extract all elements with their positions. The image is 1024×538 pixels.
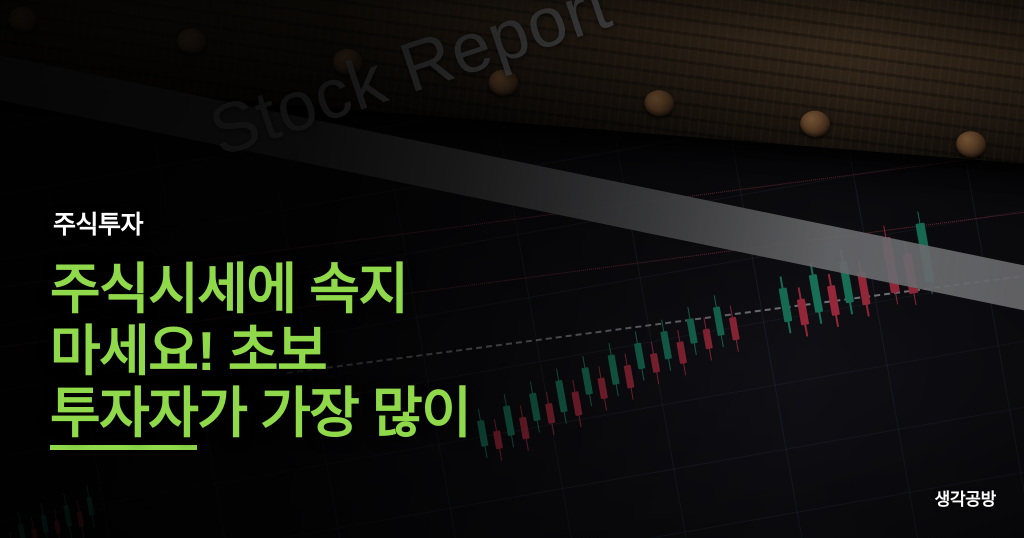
headline-line-1: 주식시세에 속지 [50, 258, 750, 320]
headline-line-3: 투자자가 가장 많이 [50, 382, 750, 444]
headline-line-3-tail: 가 가장 많이 [197, 382, 470, 444]
headline-underlined-term: 투자자 [50, 382, 197, 450]
headline: 주식시세에 속지 마세요! 초보 투자자가 가장 많이 [50, 258, 750, 444]
brand-watermark: 생각공방 [935, 485, 996, 510]
kicker-label: 주식투자 [53, 205, 143, 241]
thumbnail-canvas: Stock Report 주식투자 주식시세에 속지 마세요! 초보 투자자가 … [0, 0, 1024, 538]
headline-line-2: 마세요! 초보 [50, 320, 750, 382]
